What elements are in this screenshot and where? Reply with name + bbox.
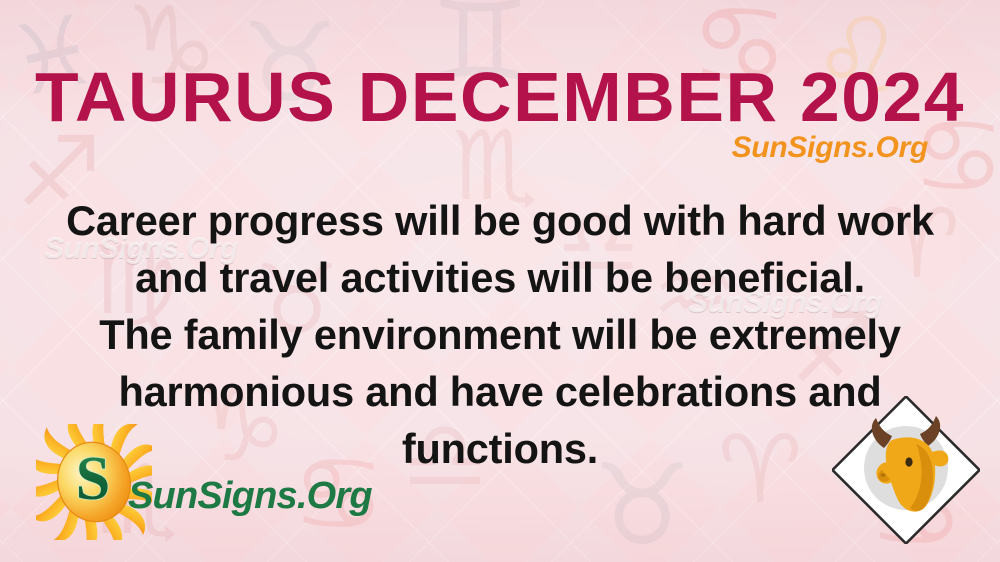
body-line: Career progress will be good with hard w…: [28, 192, 972, 249]
body-line: The family environment will be extremely: [28, 306, 972, 363]
sunsigns-logo[interactable]: S SunSigns.Org: [36, 424, 356, 540]
body-line: harmonious and have celebrations and: [28, 363, 972, 420]
body-line: and travel activities will be beneficial…: [28, 249, 972, 306]
page-title: TAURUS DECEMBER 2024: [0, 62, 1000, 132]
brand-label-top: SunSigns.Org: [732, 133, 928, 163]
logo-wordmark: SunSigns.Org: [128, 477, 372, 515]
svg-text:S: S: [76, 445, 110, 513]
taurus-badge: [832, 396, 980, 544]
horoscope-graphic: ♓♑♊♋♌♋♐♏♎♈♍♉♒♑♏♋♎♉♈♋♉♐ SunSigns.OrgSunSi…: [0, 0, 1000, 562]
